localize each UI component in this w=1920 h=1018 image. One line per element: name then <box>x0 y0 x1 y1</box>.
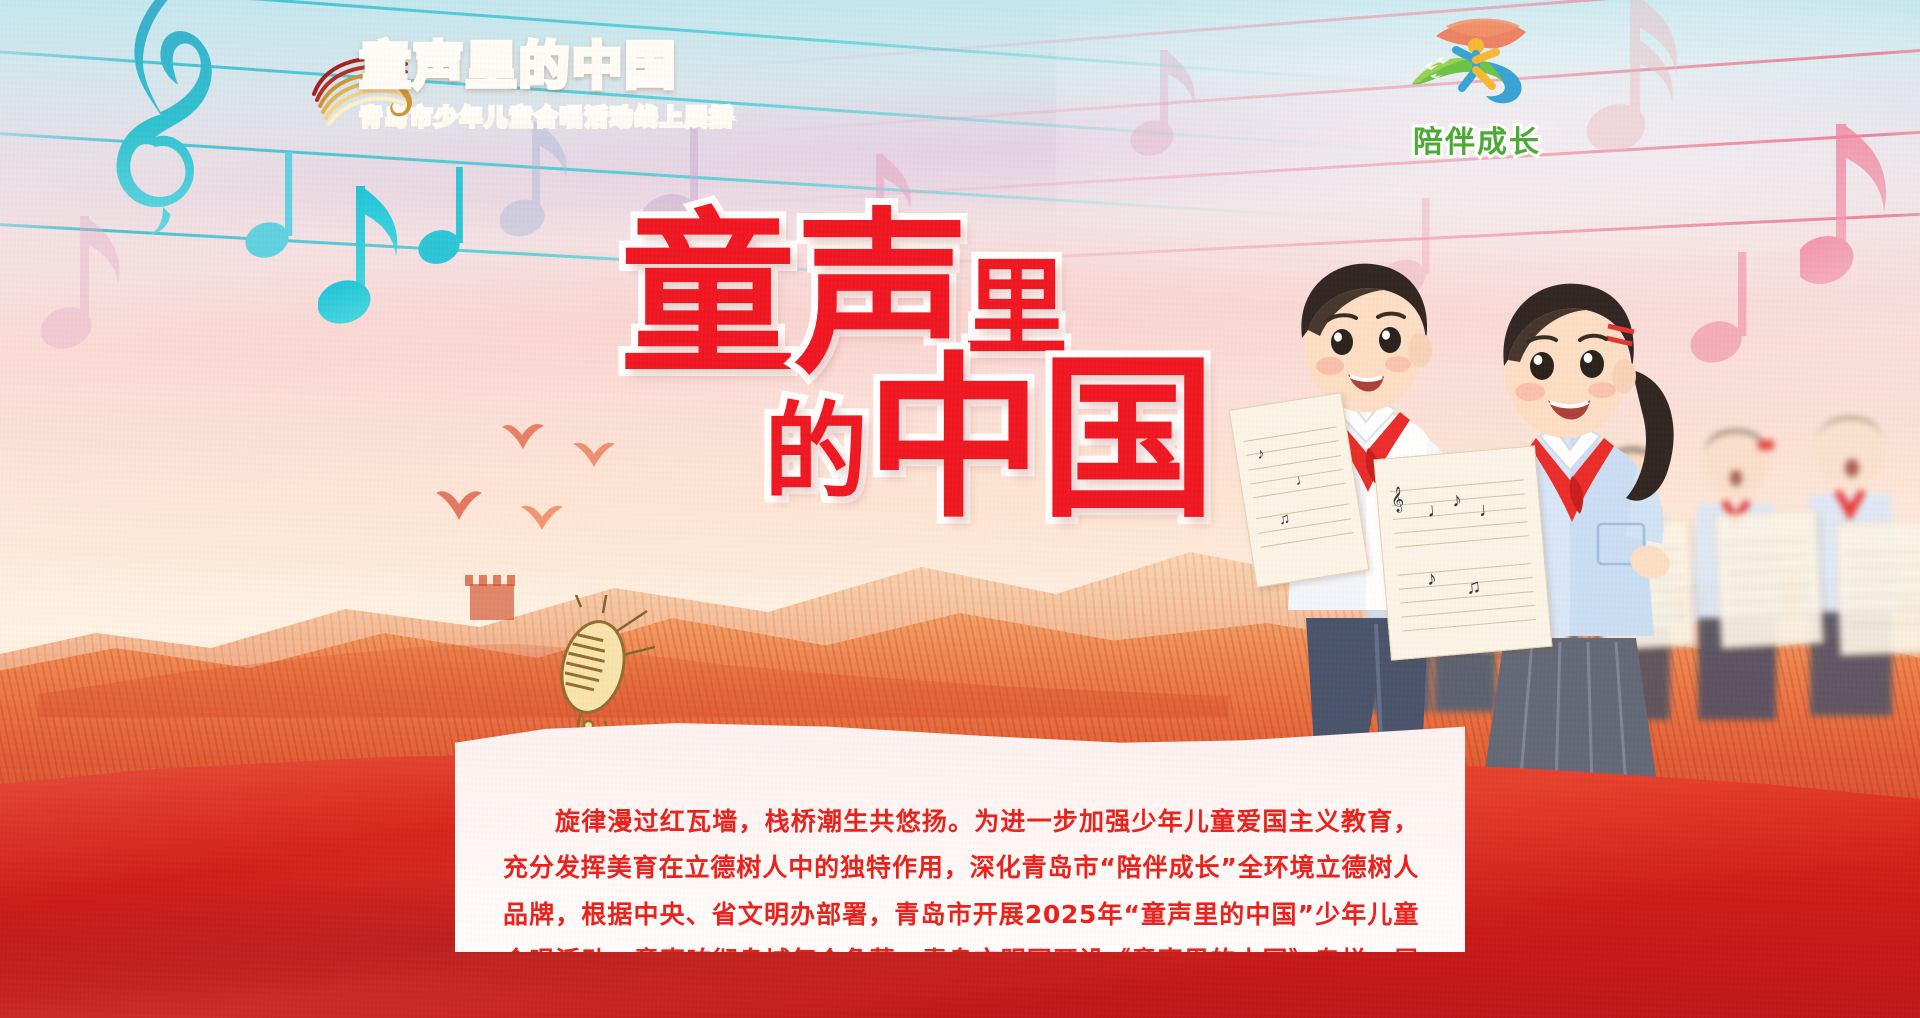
title-char-3: 里 <box>964 261 1066 357</box>
title-char-2: 声 <box>794 215 968 377</box>
sheet-music-paper: 𝄞 ♩ ♪ ♩ ♪ ♫ <box>1374 445 1553 660</box>
eighth-note-pink-2 <box>1586 0 1690 172</box>
eighth-note-pink-4 <box>1130 46 1200 172</box>
great-wall-icon <box>38 598 1228 718</box>
title-char-4: 的 <box>764 405 866 501</box>
music-note-glyph: ♫ <box>1465 576 1482 600</box>
logo-left-subtitle: 青岛市少年儿童合唱活动线上展播 <box>360 100 830 132</box>
sky-wash-violet <box>0 24 1920 279</box>
main-title: 童 声 里 的 中 国 <box>620 215 1320 521</box>
bird-icon-2 <box>572 438 616 475</box>
sheet-music-paper <box>1836 520 1920 655</box>
staff-line-pink-4 <box>692 207 1920 276</box>
treble-clef-glyph: 𝄞 <box>1390 486 1405 513</box>
sheet-music-paper <box>1474 527 1570 651</box>
bird-icon-3 <box>434 485 484 528</box>
title-char-6: 国 <box>1040 359 1214 521</box>
sky-wash-peach <box>0 378 1920 626</box>
background-sheet-music-2 <box>1598 522 1692 648</box>
eighth-note-cyan-1 <box>318 182 414 336</box>
poster-canvas: ♪ ♩ ♫ <box>0 0 1920 1018</box>
description-card: 旋律漫过红瓦墙，栈桥潮生共悠扬。为进一步加强少年儿童爱国主义教育，充分发挥美育在… <box>455 722 1465 952</box>
music-note-glyph: ♪ <box>1426 567 1438 591</box>
music-note-glyph: ♫ <box>1277 510 1291 529</box>
background-child-6 <box>1572 420 1692 725</box>
title-char-1: 童 <box>620 215 794 377</box>
music-note-glyph: ♩ <box>1426 498 1448 523</box>
bird-icon-1 <box>500 418 546 457</box>
music-note-glyph: ♩ <box>1294 470 1311 489</box>
eighth-note-cyan-3 <box>40 212 130 366</box>
background-child-3 <box>1488 440 1598 725</box>
music-note-glyph: ♩ <box>1478 498 1500 523</box>
sheet-music-paper <box>1595 520 1695 651</box>
main-title-line-2: 的 中 国 <box>768 359 1320 521</box>
music-note-glyph: ♪ <box>1451 489 1463 513</box>
quarter-note-cyan-1 <box>245 150 305 274</box>
staff-line-pink-1 <box>693 0 1920 71</box>
description-paragraph: 旋律漫过红瓦墙，栈桥潮生共悠扬。为进一步加强少年儿童爱国主义教育，充分发挥美育在… <box>503 799 1419 1018</box>
background-sheet-music-4 <box>1838 522 1920 654</box>
main-title-line-1: 童 声 里 <box>620 215 1320 377</box>
brand-logo-text: 陪伴成长 <box>1402 117 1552 161</box>
background-child-5 <box>1672 400 1802 725</box>
background-child-1 <box>1352 462 1448 717</box>
background-child-4 <box>1782 386 1920 721</box>
foreground-girl-singer <box>1420 270 1720 835</box>
sheet-music-paper <box>1715 509 1824 648</box>
background-child-2 <box>1414 452 1514 717</box>
mountain-range-far <box>0 468 1920 768</box>
great-wall-tower-icon <box>470 584 514 620</box>
background-sheet-music-1 <box>1478 530 1566 648</box>
bird-icon-4 <box>520 500 564 538</box>
eighth-note-pink-1 <box>848 150 920 282</box>
girl-sheet-music: 𝄞 ♩ ♪ ♩ ♪ ♫ <box>1374 445 1553 660</box>
quarter-note-pink-2 <box>1380 196 1440 314</box>
background-sheet-music-3 <box>1718 512 1820 646</box>
sky-wash-pink <box>0 185 1920 442</box>
music-note-glyph: ♪ <box>1256 445 1266 463</box>
sheet-music-paper: ♪ ♩ ♫ <box>1229 392 1370 588</box>
staff-line-pink-3 <box>692 124 1920 207</box>
staff-line-pink-2 <box>693 41 1920 138</box>
logo-left-title: 童声里的中国 <box>360 26 830 98</box>
boy-sheet-music: ♪ ♩ ♫ <box>1229 392 1370 588</box>
treble-clef-icon <box>88 0 238 246</box>
eighth-note-pink-3 <box>1800 120 1904 304</box>
title-char-5: 中 <box>866 359 1040 521</box>
event-logo-left[interactable]: 童声里的中国 青岛市少年儿童合唱活动线上展播 <box>360 26 830 146</box>
staff-line-cyan-4 <box>0 217 1074 286</box>
mountain-texture-far <box>0 468 1920 768</box>
brand-logo-right[interactable]: 陪伴成长 <box>1402 10 1552 160</box>
brand-emblem-icon <box>1402 10 1552 123</box>
quarter-note-pink-1 <box>1690 250 1756 380</box>
quarter-note-cyan-2 <box>418 165 476 279</box>
